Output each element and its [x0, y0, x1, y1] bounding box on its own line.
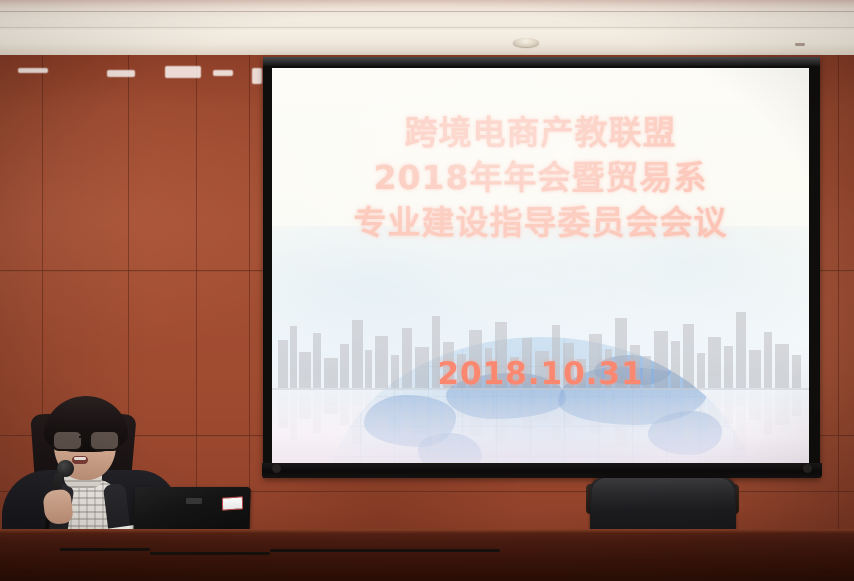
slide-title-line-2: 2018年年会暨贸易系	[272, 155, 809, 200]
glasses-lens	[89, 430, 120, 451]
ceiling-soffit	[0, 30, 854, 55]
laptop-sticker	[222, 496, 243, 510]
wall-light-reflection	[252, 68, 262, 84]
chair-headrest	[592, 478, 734, 512]
slide-title-line-3: 专业建设指导委员会会议	[272, 200, 809, 245]
desk-cable	[270, 549, 500, 552]
wall-light-reflection	[107, 70, 135, 77]
slide-title-line-1: 跨境电商产教联盟	[272, 110, 809, 155]
wall-light-reflection	[165, 66, 201, 78]
desk-cable	[60, 548, 150, 551]
desk-cable	[150, 552, 270, 555]
presenter-mouth	[72, 456, 88, 464]
projection-screen-valance	[263, 57, 820, 66]
wall-light-reflection	[213, 70, 233, 76]
ceiling-seam	[0, 27, 854, 28]
ceiling-seam	[0, 11, 854, 12]
slide-floor-sheen	[272, 390, 809, 464]
glasses-lens	[52, 430, 83, 451]
slide-title: 跨境电商产教联盟 2018年年会暨贸易系 专业建设指导委员会会议	[272, 110, 809, 245]
projection-screen: 跨境电商产教联盟 2018年年会暨贸易系 专业建设指导委员会会议 2018.10…	[272, 68, 809, 464]
glasses-bridge	[79, 436, 89, 438]
ceiling	[0, 0, 854, 62]
desk-edge	[0, 529, 854, 533]
ceiling-fixture-mark	[795, 43, 805, 46]
laptop-logo	[186, 498, 202, 504]
microphone-icon	[57, 460, 74, 477]
wall-seam	[838, 55, 839, 581]
podium-desk	[0, 529, 854, 581]
projection-screen-bottom-bar	[262, 463, 822, 478]
conference-room-photo: 跨境电商产教联盟 2018年年会暨贸易系 专业建设指导委员会会议 2018.10…	[0, 0, 854, 581]
wall-light-reflection	[18, 68, 48, 73]
glasses-icon	[52, 430, 118, 447]
slide-date: 2018.10.31	[272, 356, 809, 392]
smoke-detector-icon	[513, 38, 539, 47]
